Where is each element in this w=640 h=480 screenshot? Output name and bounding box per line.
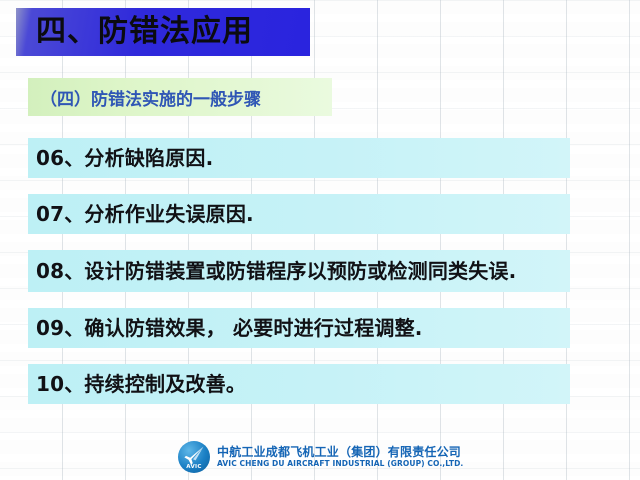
- list-item: 09、确认防错效果， 必要时进行过程调整.: [28, 308, 570, 348]
- step-list: 06、分析缺陷原因. 07、分析作业失误原因. 08、设计防错装置或防错程序以预…: [28, 138, 570, 420]
- list-item: 08、设计防错装置或防错程序以预防或检测同类失误.: [28, 250, 570, 292]
- footer-logo: AVIC 中航工业成都飞机工业（集团）有限责任公司 AVIC CHENG DU …: [178, 441, 463, 473]
- avic-aircraft-logo-icon: AVIC: [178, 441, 210, 473]
- company-name-block: 中航工业成都飞机工业（集团）有限责任公司 AVIC CHENG DU AIRCR…: [217, 446, 463, 468]
- slide-title-bar: 四、防错法应用: [16, 8, 310, 56]
- page-title: 四、防错法应用: [36, 17, 253, 47]
- list-item: 06、分析缺陷原因.: [28, 138, 570, 178]
- slide-subtitle-band: （四）防错法实施的一般步骤: [28, 78, 332, 116]
- list-item: 07、分析作业失误原因.: [28, 194, 570, 234]
- company-name-cn: 中航工业成都飞机工业（集团）有限责任公司: [217, 446, 463, 459]
- logo-badge-text: AVIC: [178, 464, 210, 470]
- company-name-en: AVIC CHENG DU AIRCRAFT INDUSTRIAL (GROUP…: [217, 460, 463, 468]
- slide-canvas: 四、防错法应用 （四）防错法实施的一般步骤 06、分析缺陷原因. 07、分析作业…: [0, 0, 640, 480]
- slide-subtitle: （四）防错法实施的一般步骤: [40, 85, 261, 110]
- list-item: 10、持续控制及改善。: [28, 364, 570, 404]
